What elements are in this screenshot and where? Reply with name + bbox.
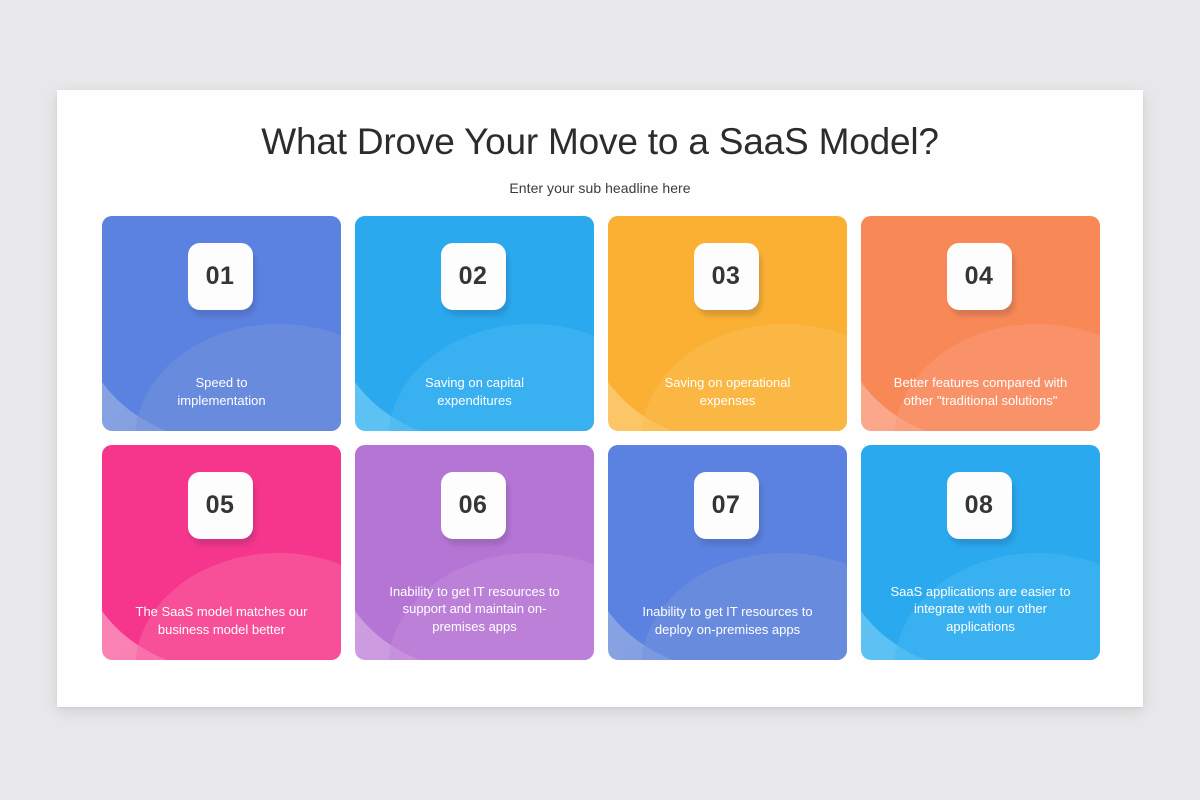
number-plate-wrapper: 03 — [694, 243, 762, 316]
number-plate[interactable]: 03 — [694, 243, 759, 310]
number-plate-wrapper: 08 — [947, 472, 1015, 545]
number-plate-text: 08 — [965, 491, 994, 520]
number-plate-text: 02 — [459, 262, 488, 291]
slide-canvas: What Drove Your Move to a SaaS Model? En… — [57, 90, 1143, 707]
card-03[interactable]: 03Saving on operational expenses — [608, 216, 847, 431]
number-plate[interactable]: 06 — [441, 472, 506, 539]
slide-header: What Drove Your Move to a SaaS Model? En… — [57, 90, 1143, 196]
card-grid: 01Speed to implementation02Saving on cap… — [102, 216, 1102, 660]
number-plate[interactable]: 05 — [188, 472, 253, 539]
card-caption: Saving on operational expenses — [620, 374, 835, 409]
page-subtitle: Enter your sub headline here — [57, 180, 1143, 196]
card-08[interactable]: 08SaaS applications are easier to integr… — [861, 445, 1100, 660]
card-caption: SaaS applications are easier to integrat… — [873, 583, 1088, 635]
number-plate-wrapper: 01 — [188, 243, 256, 316]
number-plate[interactable]: 04 — [947, 243, 1012, 310]
number-plate-wrapper: 05 — [188, 472, 256, 545]
number-plate[interactable]: 01 — [188, 243, 253, 310]
number-plate-text: 04 — [965, 262, 994, 291]
card-06[interactable]: 06Inability to get IT resources to suppo… — [355, 445, 594, 660]
card-caption: Inability to get IT resources to deploy … — [620, 603, 835, 638]
card-04[interactable]: 04Better features compared with other "t… — [861, 216, 1100, 431]
card-07[interactable]: 07Inability to get IT resources to deplo… — [608, 445, 847, 660]
card-caption: Better features compared with other "tra… — [873, 374, 1088, 409]
card-caption: Speed to implementation — [114, 374, 329, 409]
number-plate-wrapper: 06 — [441, 472, 509, 545]
card-01[interactable]: 01Speed to implementation — [102, 216, 341, 431]
card-caption: Saving on capital expenditures — [367, 374, 582, 409]
number-plate-wrapper: 04 — [947, 243, 1015, 316]
number-plate[interactable]: 08 — [947, 472, 1012, 539]
card-05[interactable]: 05The SaaS model matches our business mo… — [102, 445, 341, 660]
number-plate-text: 01 — [206, 262, 235, 291]
card-02[interactable]: 02Saving on capital expenditures — [355, 216, 594, 431]
number-plate-wrapper: 07 — [694, 472, 762, 545]
number-plate-text: 06 — [459, 491, 488, 520]
number-plate[interactable]: 07 — [694, 472, 759, 539]
card-caption: The SaaS model matches our business mode… — [114, 603, 329, 638]
number-plate-wrapper: 02 — [441, 243, 509, 316]
number-plate-text: 07 — [712, 491, 741, 520]
number-plate-text: 05 — [206, 491, 235, 520]
number-plate[interactable]: 02 — [441, 243, 506, 310]
page-title: What Drove Your Move to a SaaS Model? — [57, 121, 1143, 164]
number-plate-text: 03 — [712, 262, 741, 291]
card-caption: Inability to get IT resources to support… — [367, 583, 582, 635]
